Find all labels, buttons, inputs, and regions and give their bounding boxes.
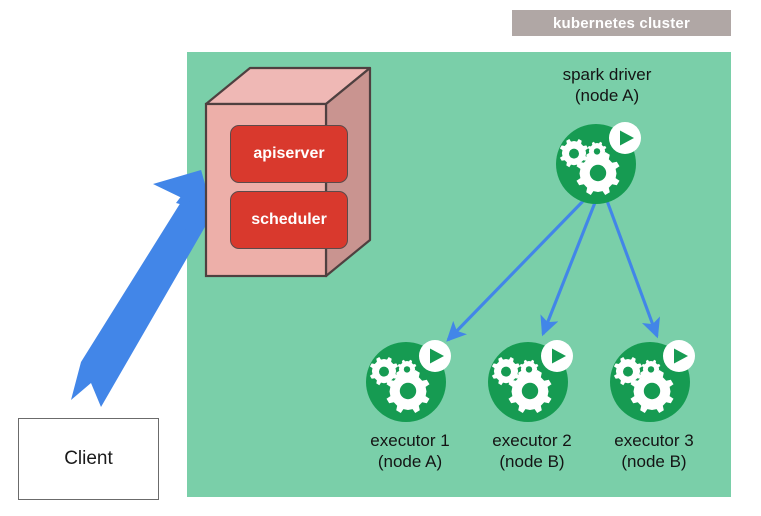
client-label: Client — [64, 448, 113, 470]
executor-2-play-icon — [541, 340, 573, 372]
control-plane-cube: apiserver scheduler — [204, 66, 372, 278]
apiserver-label: apiserver — [253, 145, 324, 163]
executor-3-node-icon — [606, 330, 702, 426]
apiserver-box: apiserver — [230, 125, 348, 183]
spark-submit-arrow — [55, 155, 220, 420]
scheduler-box: scheduler — [230, 191, 348, 249]
executor-2-node-icon — [484, 330, 580, 426]
spark-driver-caption: spark driver (node A) — [527, 64, 687, 106]
cluster-label-text: kubernetes cluster — [553, 15, 690, 32]
cluster-label-badge: kubernetes cluster — [512, 10, 731, 36]
diagram-canvas: kubernetes cluster Client spark-submit a… — [0, 0, 761, 516]
executor-3-title: executor 3 — [574, 430, 734, 451]
spark-driver-title: spark driver — [527, 64, 687, 85]
client-box: Client — [18, 418, 159, 500]
executor-3-node: (node B) — [574, 451, 734, 472]
executor-3-play-icon — [663, 340, 695, 372]
scheduler-label: scheduler — [251, 211, 327, 229]
executor-1-play-icon — [419, 340, 451, 372]
executor-3-caption: executor 3 (node B) — [574, 430, 734, 472]
spark-driver-node: (node A) — [527, 85, 687, 106]
executor-1-node-icon — [362, 330, 458, 426]
driver-play-icon — [609, 122, 641, 154]
spark-driver-node-icon — [552, 112, 648, 208]
